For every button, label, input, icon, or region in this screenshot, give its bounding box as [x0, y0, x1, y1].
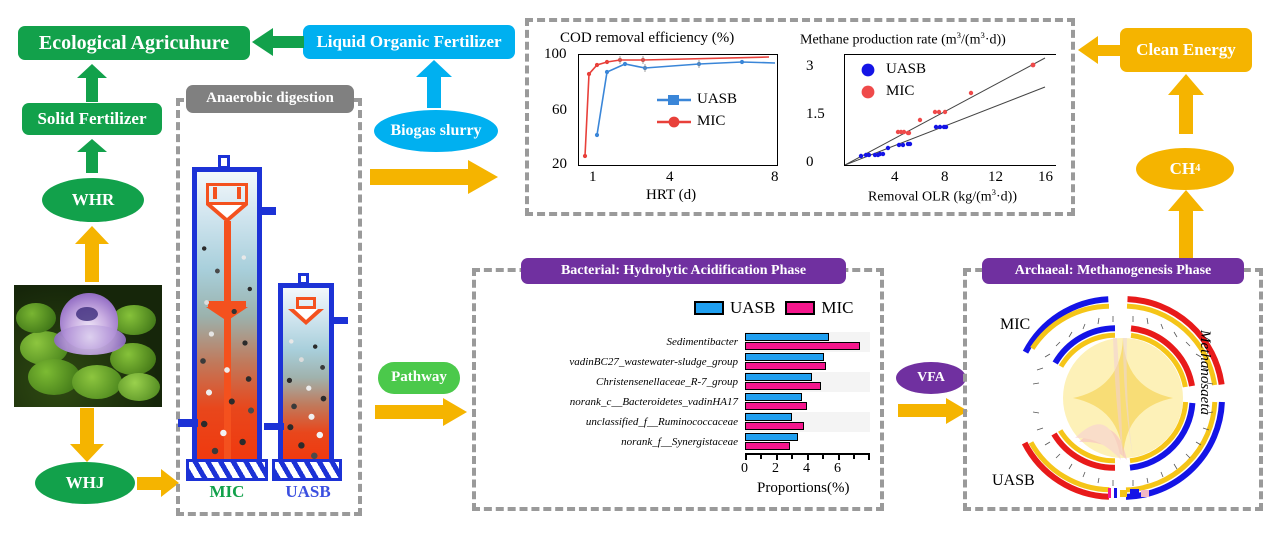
ch4-oval[interactable]: CH4	[1136, 148, 1234, 190]
legend-label-uasb: UASB	[730, 298, 775, 318]
legend-label-mic: MIC	[821, 298, 853, 318]
bar-uasb-3	[745, 393, 802, 401]
pathway-oval[interactable]: Pathway	[378, 362, 460, 394]
bacterial-panel-title: Bacterial: Hydrolytic Acidification Phas…	[521, 258, 846, 284]
legend-swatch-uasb	[694, 301, 724, 315]
archaeal-panel-title: Archaeal: Methanogenesis Phase	[982, 258, 1244, 284]
bar-mic-3	[745, 402, 807, 410]
methane-ytick-15: 1.5	[806, 106, 825, 123]
legend-swatch-mic	[785, 301, 815, 315]
bar-mic-0	[745, 342, 860, 350]
circos-label-methanosaeta: Methanosaeta	[1196, 330, 1213, 415]
methane-xtick-12: 12	[988, 169, 1003, 186]
arrow-up-ch4-to-clean-energy	[1168, 74, 1204, 134]
bar-uasb-0	[745, 333, 829, 341]
biogas-slurry-oval[interactable]: Biogas slurry	[374, 110, 498, 152]
cod-legend: UASB MIC	[657, 91, 737, 130]
methane-xtick-16: 16	[1038, 169, 1053, 186]
methane-chart-title: Methane production rate (m3/(m3·d))	[800, 30, 1006, 49]
arrow-left-to-eco-agriculture	[252, 28, 304, 56]
methane-legend-mic: MIC	[886, 83, 914, 100]
arrow-right-to-charts-panel	[370, 160, 502, 194]
bacterial-taxon-labels: Sedimentibacter vadinBC27_wastewater-slu…	[480, 336, 738, 456]
cod-xtick-4: 4	[666, 169, 674, 186]
arrow-up-photo-to-whr	[75, 226, 109, 282]
circos-label-mic: MIC	[1000, 316, 1030, 334]
methane-chart: Methane production rate (m3/(m3·d))	[800, 28, 1068, 208]
clean-energy-box[interactable]: Clean Energy	[1120, 28, 1252, 72]
reactor-uasb	[278, 273, 334, 475]
taxon-label-3: norank_c__Bacteroidetes_vadinHA17	[480, 396, 738, 408]
solid-fertilizer-box[interactable]: Solid Fertilizer	[22, 103, 162, 135]
taxon-label-1: vadinBC27_wastewater-sludge_group	[480, 356, 738, 368]
reactor-mic-label: MIC	[186, 482, 268, 502]
methane-legend-uasb: UASB	[886, 61, 926, 78]
bar-mic-5	[745, 442, 790, 450]
taxon-label-2: Christensenellaceae_R-7_group	[480, 376, 738, 388]
anaerobic-digestion-title: Anaerobic digestion	[186, 85, 354, 113]
bar-uasb-5	[745, 433, 798, 441]
arrow-down-photo-to-whj	[70, 408, 104, 462]
arrow-right-whj-to-digestion	[137, 469, 179, 497]
arrow-right-to-bacterial-panel	[375, 398, 473, 426]
circos-label-uasb: UASB	[992, 472, 1035, 490]
arrow-up-biogas-to-lof	[416, 60, 452, 108]
reactor-uasb-base	[272, 459, 342, 481]
cod-chart-title: COD removal efficiency (%)	[560, 30, 734, 47]
arrow-left-clean-energy-out	[1078, 36, 1126, 64]
cod-legend-mic: MIC	[697, 113, 725, 130]
bacterial-xtick-2: 2	[772, 461, 779, 477]
cod-plot-area: UASB MIC	[578, 54, 778, 166]
bar-mic-2	[745, 382, 821, 390]
arrow-up-solid-fertilizer-to-eco	[77, 64, 107, 102]
methane-legend: UASB MIC	[859, 61, 926, 100]
methane-xtick-8: 8	[941, 169, 949, 186]
methane-xtick-4: 4	[891, 169, 899, 186]
whj-oval[interactable]: WHJ	[35, 462, 135, 504]
bacterial-legend: UASB MIC	[694, 298, 853, 318]
cod-legend-uasb: UASB	[697, 91, 737, 108]
arrow-up-archaeal-to-ch4	[1168, 190, 1204, 262]
bar-mic-1	[745, 362, 826, 370]
bar-uasb-2	[745, 373, 812, 381]
cod-xlabel: HRT (d)	[646, 187, 696, 204]
eco-agriculture-box[interactable]: Ecological Agricuhure	[18, 26, 250, 60]
methane-xlabel: Removal OLR (kg/(m3·d))	[868, 187, 1017, 206]
arrow-right-vfa-to-archaeal	[898, 398, 972, 424]
taxon-label-4: unclassified_f__Ruminococcaceae	[480, 416, 738, 428]
taxon-label-5: norank_f__Synergistaceae	[480, 436, 738, 448]
reactor-uasb-label: UASB	[268, 482, 348, 502]
ch4-subscript: 4	[1195, 163, 1200, 174]
cod-ytick-20: 20	[552, 156, 567, 173]
reactor-mic-base	[186, 459, 268, 481]
bar-mic-4	[745, 422, 804, 430]
taxon-label-0: Sedimentibacter	[480, 336, 738, 348]
bacterial-xtick-0: 0	[741, 461, 748, 477]
bar-uasb-4	[745, 413, 792, 421]
cod-xtick-8: 8	[771, 169, 779, 186]
cod-ytick-60: 60	[552, 102, 567, 119]
methane-ytick-00: 0	[806, 154, 814, 171]
bar-uasb-1	[745, 353, 824, 361]
bacterial-xlabel: Proportions(%)	[757, 480, 850, 497]
cod-chart: COD removal efficiency (%)	[538, 28, 788, 208]
liquid-organic-fertilizer-box[interactable]: Liquid Organic Fertilizer	[303, 25, 515, 59]
bacterial-xtick-marks	[745, 455, 870, 460]
ch4-label: CH	[1170, 160, 1196, 178]
cod-xtick-1: 1	[589, 169, 597, 186]
water-hyacinth-photo	[14, 285, 162, 407]
reactor-mic	[192, 155, 262, 475]
cod-ytick-100: 100	[544, 46, 567, 63]
bacterial-bar-plot: 0 2 4 6 Proportions(%)	[745, 332, 870, 462]
methane-ytick-30: 3	[806, 58, 814, 75]
arrow-up-whr-to-solid-fertilizer	[77, 139, 107, 173]
bacterial-xtick-4: 4	[803, 461, 810, 477]
bacterial-xtick-6: 6	[834, 461, 841, 477]
whr-oval[interactable]: WHR	[42, 178, 144, 222]
vfa-oval[interactable]: VFA	[896, 362, 966, 394]
methane-plot-area: UASB MIC	[844, 54, 1056, 166]
